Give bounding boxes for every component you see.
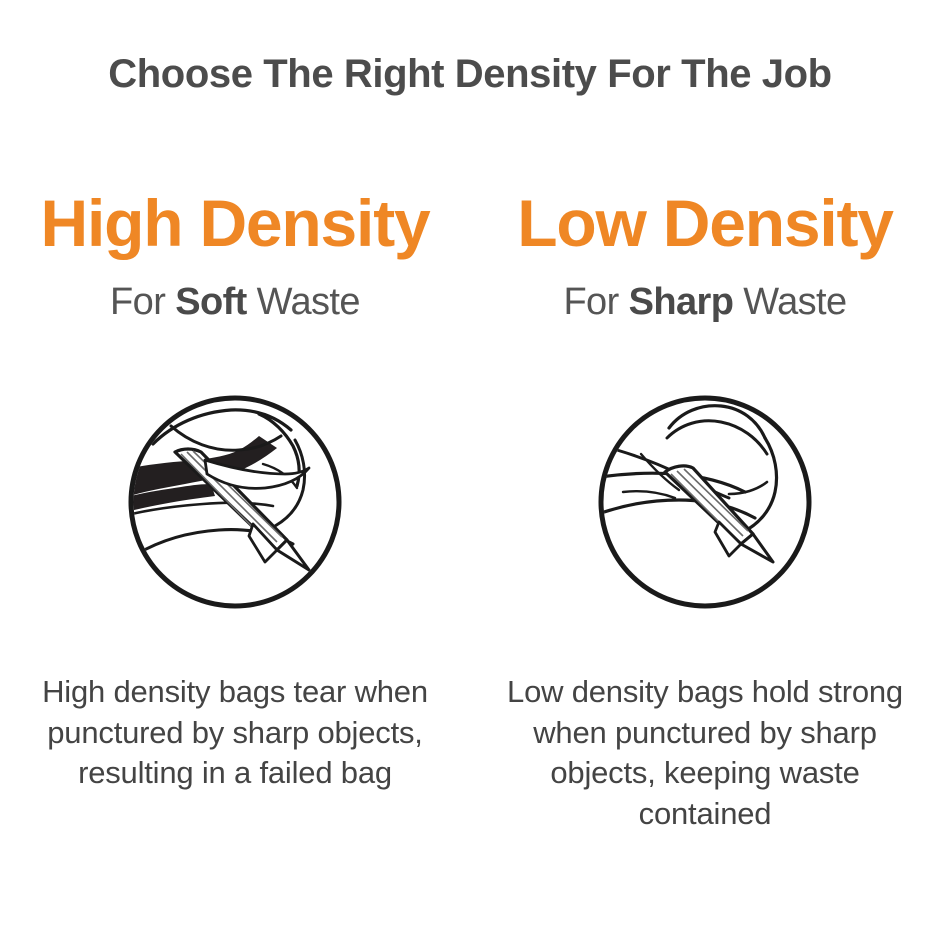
density-comparison-infographic: Choose The Right Density For The Job Hig… [0, 0, 940, 940]
low-density-caption: Low density bags hold strong when punctu… [485, 672, 925, 836]
subtitle-suffix: Waste [247, 281, 360, 323]
high-density-heading: High Density [41, 180, 430, 266]
high-density-caption: High density bags tear when punctured by… [15, 672, 455, 795]
column-high-density: High Density For Soft Waste [0, 180, 470, 835]
subtitle-prefix: For [563, 281, 628, 323]
low-density-bag-holding-strong-icon [597, 394, 813, 610]
high-density-bag-torn-by-sharp-object-icon [127, 394, 343, 610]
subtitle-emphasis: Sharp [629, 281, 734, 323]
subtitle-prefix: For [110, 281, 175, 323]
page-title: Choose The Right Density For The Job [0, 52, 940, 96]
subtitle-suffix: Waste [733, 281, 846, 323]
column-low-density: Low Density For Sharp Waste [470, 180, 940, 835]
low-density-heading: Low Density [517, 180, 893, 266]
comparison-columns: High Density For Soft Waste [0, 180, 940, 835]
high-density-subtitle: For Soft Waste [110, 280, 360, 326]
subtitle-emphasis: Soft [175, 281, 246, 323]
low-density-subtitle: For Sharp Waste [563, 280, 846, 326]
